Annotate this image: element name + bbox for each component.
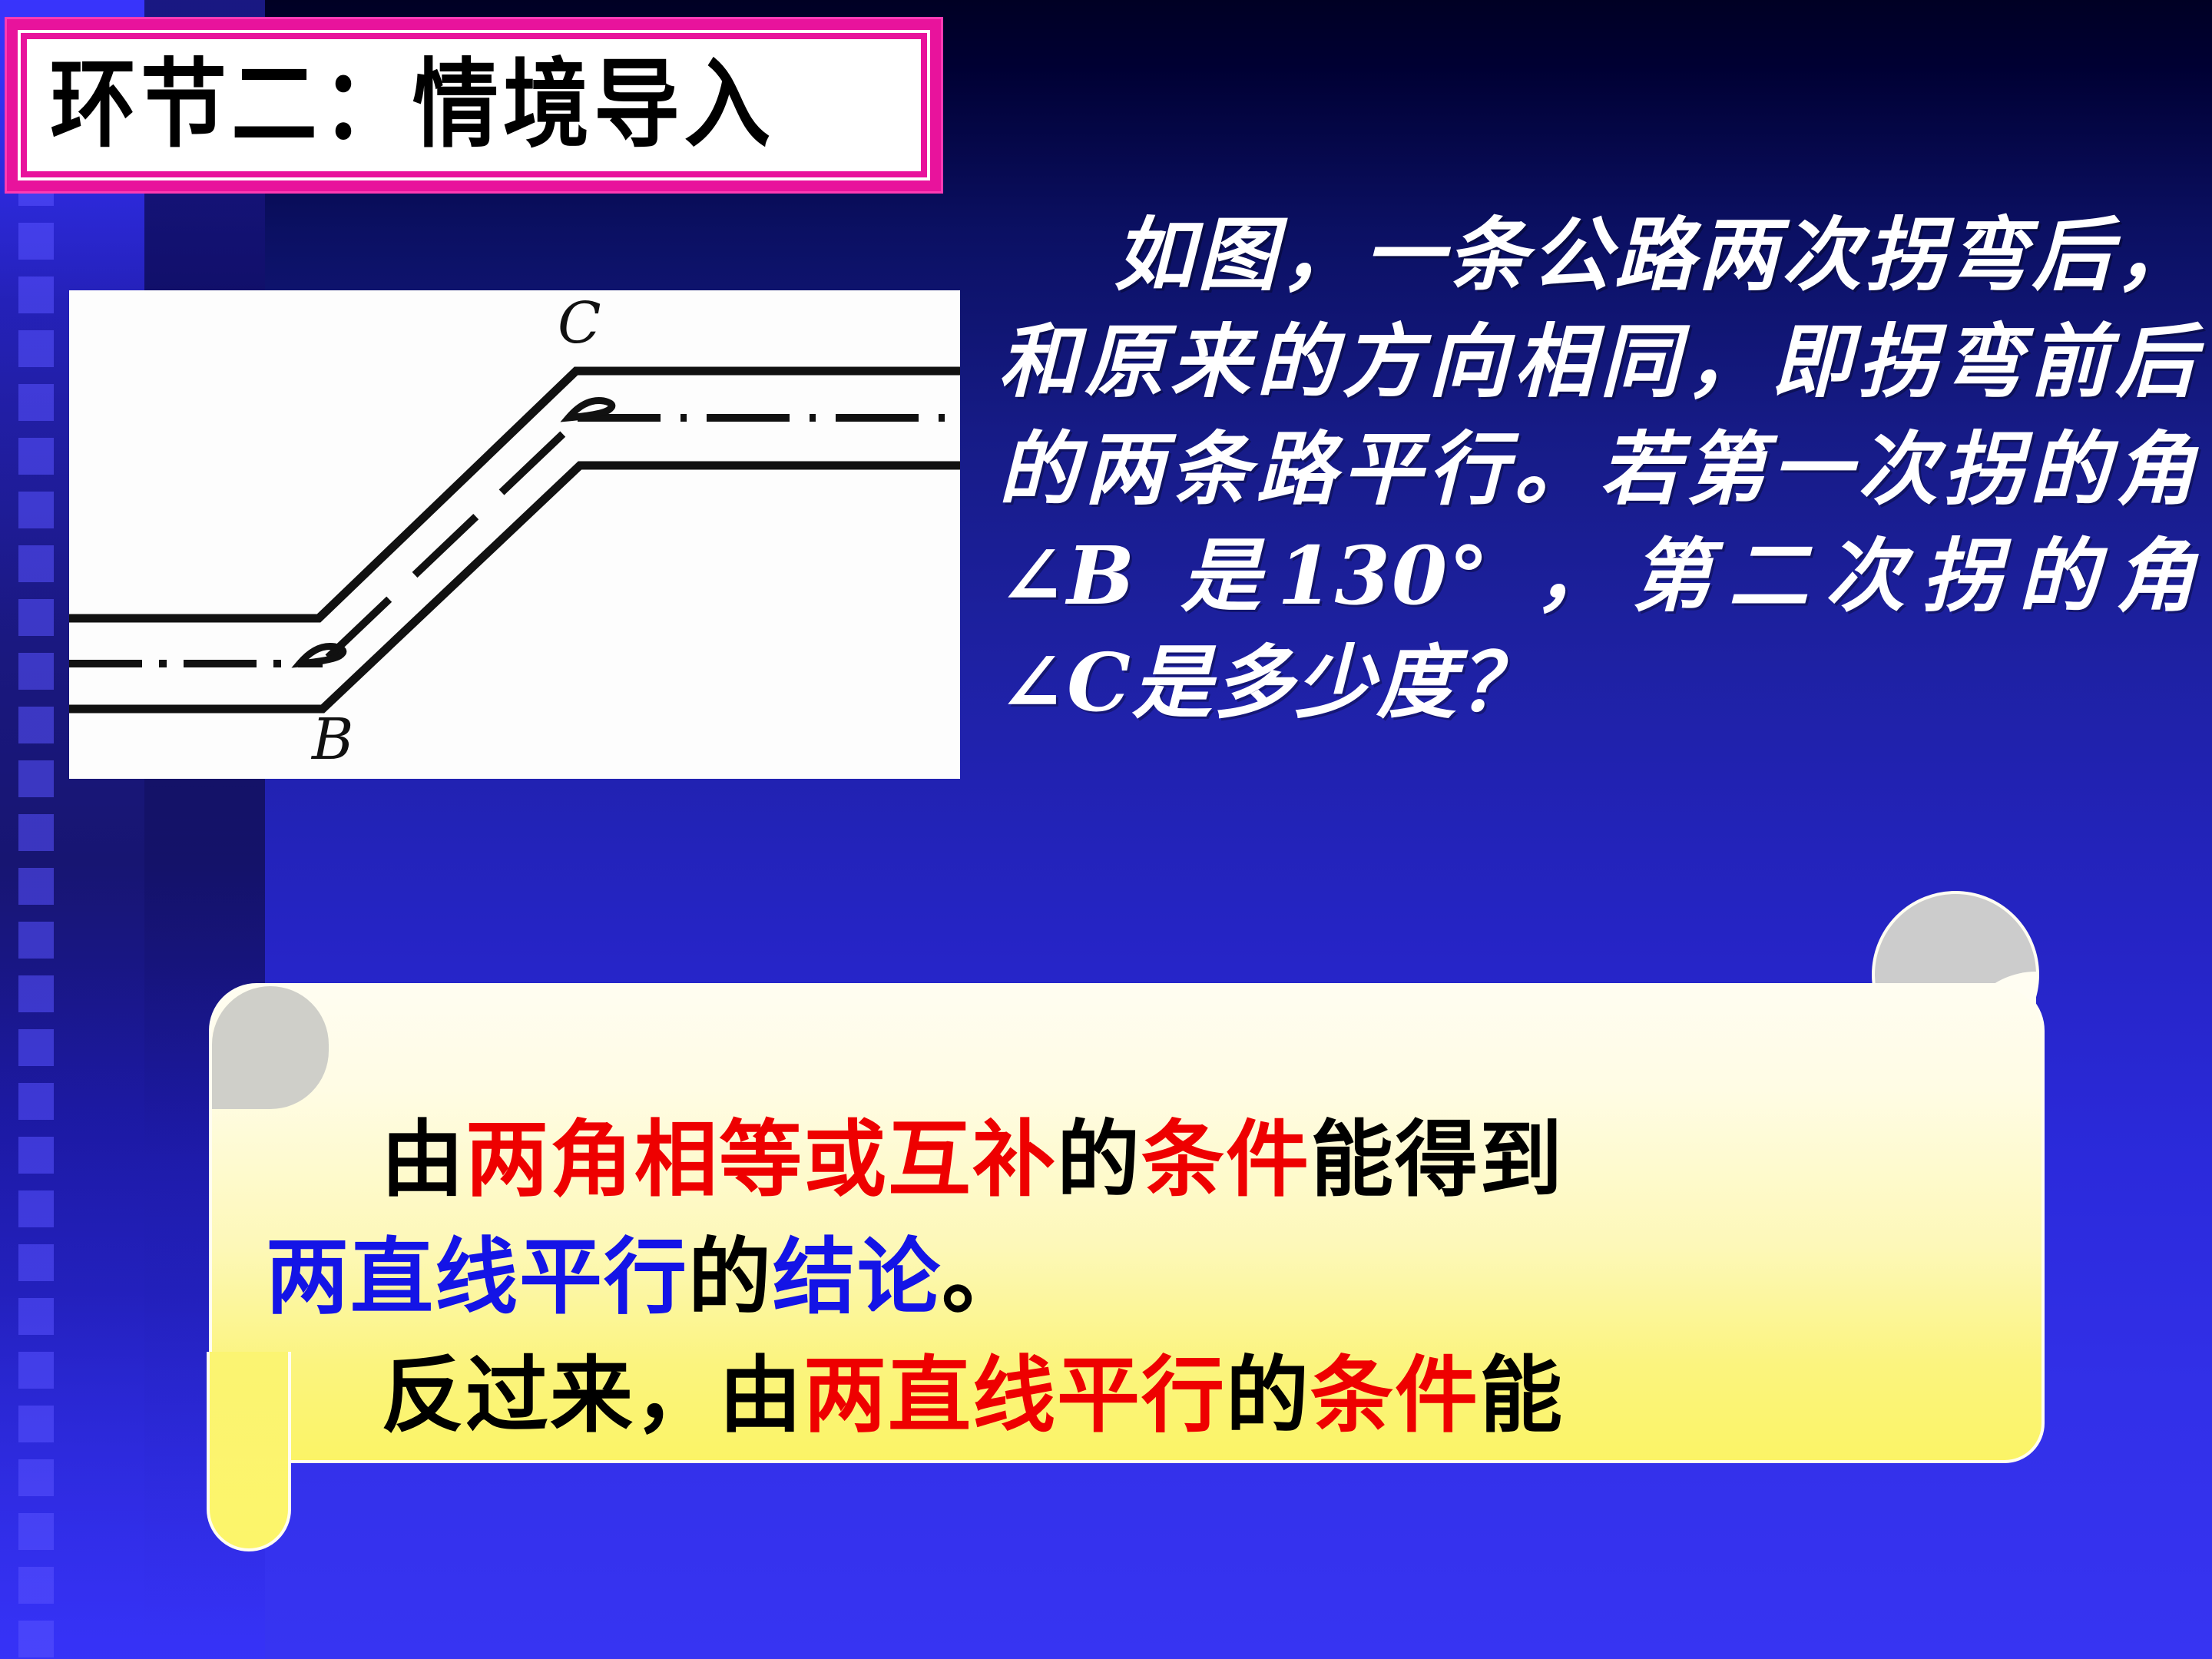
callout-l1-s4: 条件 (1141, 1111, 1310, 1208)
road-diagram-svg: B C (69, 290, 960, 779)
title-plate-face: 环节二：情境导入 (27, 39, 921, 171)
figure-label-c: C (558, 290, 601, 356)
callout-line-3: 反过来，由两直线平行的条件能 (266, 1337, 2032, 1455)
callout-line-1: 由两角相等或互补的条件能得到 (266, 1101, 2032, 1219)
scroll-callout-body: 由两角相等或互补的条件能得到 两直线平行的结论。 反过来，由两直线平行的条件能 … (209, 983, 2045, 1463)
callout-l2-s4: 。 (942, 1229, 1026, 1326)
scroll-callout-text: 由两角相等或互补的条件能得到 两直线平行的结论。 反过来，由两直线平行的条件能 … (266, 1101, 2032, 1463)
scroll-callout: 由两角相等或互补的条件能得到 两直线平行的结论。 反过来，由两直线平行的条件能 … (196, 891, 2039, 1559)
sidebar-perforation-squares (18, 115, 54, 1659)
callout-l1-s5: 能得到 (1310, 1111, 1564, 1208)
figure-label-b: B (310, 707, 353, 773)
callout-l2-s2: 的 (688, 1229, 773, 1326)
callout-l2-s3: 结论 (773, 1229, 942, 1326)
callout-l2-s1: 两直线平行 (266, 1229, 688, 1326)
scroll-curl-top-left-icon (212, 986, 329, 1109)
scroll-tab-bottom-left (207, 1352, 291, 1551)
problem-statement-text: 如图，一条公路两次拐弯后，和原来的方向相同，即拐弯前后的两条路平行。若第一次拐的… (998, 207, 2197, 730)
callout-l1-s3: 的 (1057, 1111, 1141, 1208)
callout-l3-s2: 两直线平行 (803, 1347, 1226, 1444)
callout-l3-s3: 的 (1226, 1347, 1310, 1444)
callout-line-4: 否得到两角相等或互补的结论呢？ (266, 1455, 2032, 1463)
road-diagram-figure: B C (69, 290, 960, 779)
slide-title-plate: 环节二：情境导入 (5, 17, 943, 194)
callout-l3-s5: 能 (1479, 1347, 1564, 1444)
callout-l1-s1: 由 (381, 1111, 465, 1208)
problem-statement: 如图，一条公路两次拐弯后，和原来的方向相同，即拐弯前后的两条路平行。若第一次拐的… (998, 201, 2197, 737)
callout-l1-s2: 两角相等或互补 (465, 1111, 1057, 1208)
slide-canvas: 环节二：情境导入 B C 如图，一条公路两次拐弯后，和原来的方向相同，即拐 (0, 0, 2212, 1659)
page-title: 环节二：情境导入 (27, 57, 775, 153)
callout-l3-s1: 反过来，由 (381, 1347, 803, 1444)
callout-line-2: 两直线平行的结论。 (266, 1219, 2032, 1336)
callout-l3-s4: 条件 (1310, 1347, 1479, 1444)
